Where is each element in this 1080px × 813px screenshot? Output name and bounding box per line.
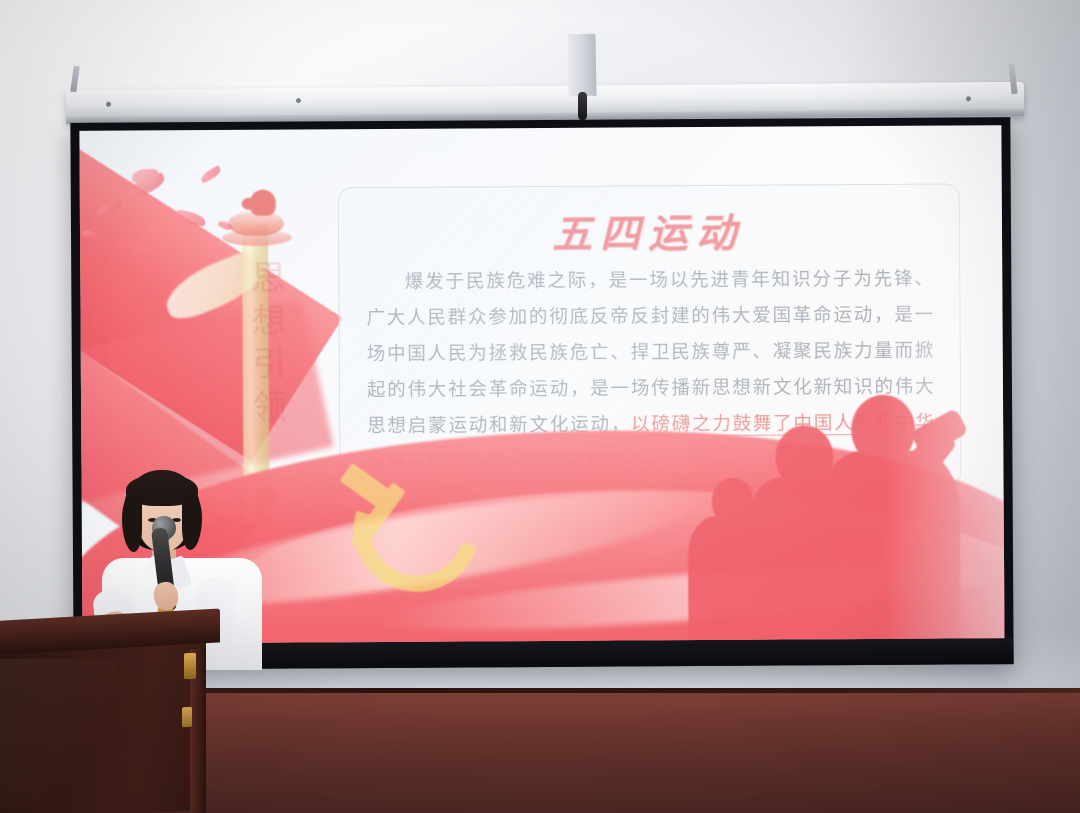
hammer-and-sickle-emblem (335, 449, 466, 580)
column-vertical-verse: 思想引领 (240, 260, 290, 432)
podium-gold-trim-lower (182, 707, 192, 727)
housing-screw (296, 98, 301, 103)
presentation-scene: 思想引领 五四运动 爆发于民族危难之际，是一场以先进青年知识分子为先锋、广大人民… (0, 0, 1080, 813)
screen-pull-knob[interactable] (578, 92, 587, 120)
housing-screw (106, 102, 111, 107)
podium-gold-trim (184, 653, 196, 680)
dove-icon (199, 165, 223, 183)
presenter-hair-left (122, 496, 142, 552)
wooden-podium (0, 615, 220, 813)
screen-mount-bracket (567, 34, 596, 96)
podium-light-sheen (0, 659, 116, 809)
slide-title: 五四运动 (338, 199, 958, 261)
slide-edge-wash (881, 125, 1004, 639)
presenter-hair-right (182, 496, 202, 550)
housing-screw (966, 96, 971, 101)
huabiao-lion (250, 190, 276, 216)
